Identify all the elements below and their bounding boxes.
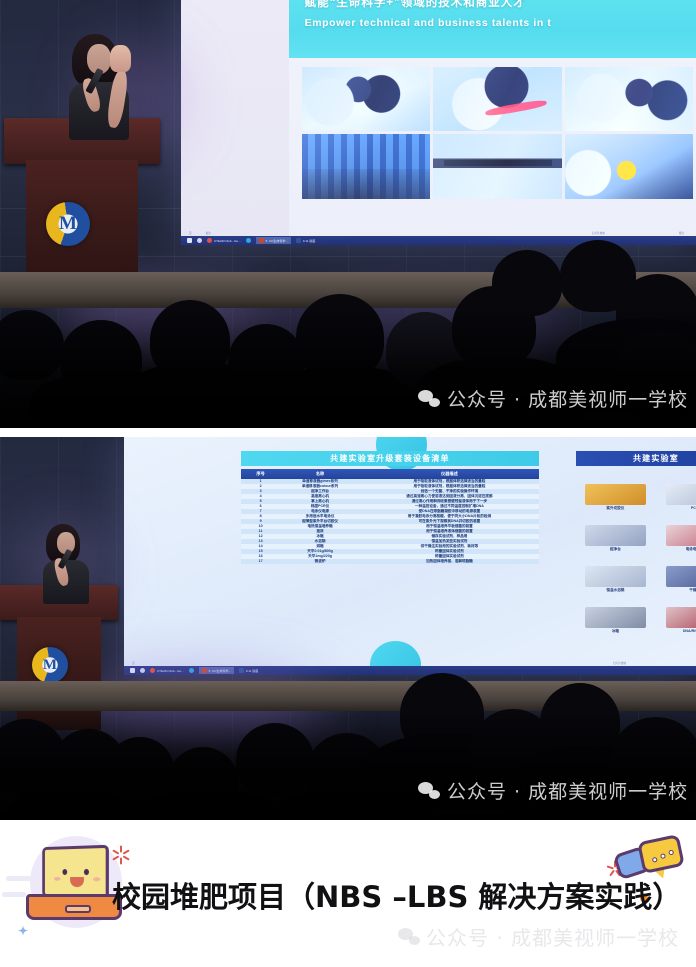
equipment-label: 电泳电源装置 (686, 547, 696, 552)
page-root: 赋能“生命科学+”领域的技术和商业人才 Empower technical an… (0, 0, 696, 967)
taskbar-item-powerpoint[interactable]: 5. UC生命科学... (256, 237, 291, 244)
equipment-label: PCR仪 (691, 506, 696, 511)
taskbar-label: 9.11 讲座 (246, 669, 258, 673)
wechat-icon (398, 928, 420, 945)
search-icon[interactable] (197, 238, 202, 243)
grid-photo-lab-pipetting (302, 67, 430, 132)
banner-title: 校园堆肥项目（NBS –LBS 解决方案实践） (112, 874, 681, 916)
bubble-dots (651, 849, 674, 863)
slide-footer-hint: 备注 (206, 231, 211, 235)
speed-line (2, 892, 26, 897)
banner-watermark-text: 公众号 · 成都美视师一学校 (426, 922, 679, 951)
presenter-1 (48, 30, 153, 135)
equipment-label: 冰箱 (612, 629, 619, 634)
table-cell: 微波炉 (280, 559, 360, 564)
ppt-icon[interactable] (259, 238, 264, 243)
slide-footer-hint: 批注 (679, 231, 684, 235)
water-bath-icon (585, 566, 647, 587)
photo-lecture-hall-1: 赋能“生命科学+”领域的技术和商业人才 Empower technical an… (0, 0, 696, 428)
pcr-machine-icon (666, 484, 696, 505)
table-cell: 4 (241, 494, 280, 498)
equipment-item: 电泳电源装置 (657, 513, 696, 552)
equipment-label: 恒温水浴锅 (606, 588, 624, 593)
taskbar-label: 5. UC生命科学... (266, 239, 288, 243)
equipment-table: 序号 名称 仪器描述 1单道移液器gimex系列用于吸取液体试剂，根据体积选择适… (241, 469, 538, 637)
grid-photo-auditorium (433, 134, 561, 199)
taskbar-item-word[interactable]: 9.11 讲座 (239, 668, 258, 673)
projection-screen-2: 共建实验室升级套装设备清单 共建实验室 序号 名称 仪器描述 1单道移液器gim… (124, 437, 696, 675)
table-cell: 16 (241, 554, 280, 558)
watermark-text: 公众号 · 成都美视师一学校 (447, 777, 688, 804)
watermark-2: 公众号 · 成都美视师一学校 (418, 777, 688, 804)
equipment-item: 冰箱 (576, 595, 655, 634)
word-icon[interactable] (296, 238, 301, 243)
chrome-icon[interactable] (150, 668, 155, 673)
table-cell: 1 (241, 479, 280, 483)
equipment-icon-panel: 紫外切胶仪 PCR仪 超净台 电泳电源装置 (576, 469, 696, 637)
taskbar-item-chrome[interactable]: CTEAM Club - Go... (150, 668, 184, 673)
projection-screen-1: 赋能“生命科学+”领域的技术和商业人才 Empower technical an… (181, 0, 696, 245)
table-cell: 17 (241, 559, 280, 563)
school-crest: M (32, 647, 68, 683)
crest-letter: M (43, 657, 57, 674)
taskbar-item-start[interactable] (187, 238, 192, 243)
taskbar-item-word[interactable]: 9.11 讲座 (296, 238, 315, 243)
electrophoresis-power-icon (666, 525, 696, 546)
taskbar-label: 5. UC生命科学... (209, 669, 231, 673)
laptop-screen (42, 845, 109, 900)
photo-separator-gap (0, 428, 696, 437)
equipment-label: 干燥烘箱 (689, 588, 696, 593)
wechat-icon (418, 782, 440, 799)
table-cell: 14 (241, 544, 280, 548)
clean-bench-icon (585, 525, 647, 546)
presenter-raised-hand (110, 45, 131, 72)
windows-start-icon[interactable] (130, 668, 135, 673)
taskbar-item-search[interactable] (140, 668, 145, 673)
grid-photo-display-screen (565, 134, 693, 199)
table-cell: 5 (241, 499, 280, 503)
equipment-label: 紫外切胶仪 (606, 506, 624, 511)
table-cell: 10 (241, 524, 280, 528)
equipment-item: 紫外切胶仪 (576, 472, 655, 511)
sparkle-icon (114, 848, 128, 862)
word-icon[interactable] (239, 668, 244, 673)
equipment-item: DNA/RNA制胶器 (657, 595, 696, 634)
slide-footer-hint: 页 (132, 661, 135, 665)
windows-taskbar[interactable]: CTEAM Club - Go... 5. UC生命科学... 9.11 讲座 (181, 236, 696, 245)
laptop-base (26, 894, 122, 920)
taskbar-label: 9.11 讲座 (303, 239, 315, 243)
watermark-1: 公众号 · 成都美视师一学校 (418, 385, 688, 412)
chrome-icon[interactable] (207, 238, 212, 243)
table-cell: 11 (241, 529, 280, 533)
table-cell: 8 (241, 514, 280, 518)
wechat-icon (418, 390, 440, 407)
laptop-face (45, 848, 106, 896)
table-row: 17微波炉加热固体培养基、溶解琼脂糖 (241, 559, 538, 564)
school-crest: M (46, 202, 90, 246)
grid-photo-white-coats (565, 67, 693, 132)
table-header-cell: 仪器描述 (360, 471, 538, 477)
slide-left-column (181, 0, 289, 245)
crest-letter: M (59, 213, 77, 235)
table-cell: 9 (241, 519, 280, 523)
taskbar-item-edge[interactable] (189, 668, 194, 673)
slide-lifescience-talents: 赋能“生命科学+”领域的技术和商业人才 Empower technical an… (181, 0, 696, 245)
table-cell: 3 (241, 489, 280, 493)
equipment-label: 超净台 (610, 547, 621, 552)
laptop-trackpad (65, 905, 91, 913)
table-header-row: 序号 名称 仪器描述 (241, 469, 538, 479)
equipment-item: 超净台 (576, 513, 655, 552)
presenter-2 (28, 522, 106, 600)
grid-photo-exhibition (302, 134, 430, 199)
gel-caster-icon (666, 607, 696, 628)
taskbar-label: CTEAM Club - Go... (214, 239, 241, 243)
table-cell: 13 (241, 539, 280, 543)
grid-photo-lab-equipment (433, 67, 561, 132)
panel-title-left: 共建实验室升级套装设备清单 (241, 451, 538, 467)
banner-watermark: 公众号 · 成都美视师一学校 (398, 922, 679, 951)
table-cell: 6 (241, 504, 280, 508)
taskbar-item-chrome[interactable]: CTEAM Club - Go... (207, 238, 241, 243)
slide-title-cn: 赋能“生命科学+”领域的技术和商业人才 (305, 0, 526, 10)
photo-lecture-hall-2: 共建实验室升级套装设备清单 共建实验室 序号 名称 仪器描述 1单道移液器gim… (0, 437, 696, 820)
ppt-icon[interactable] (202, 668, 207, 673)
taskbar-item-start[interactable] (130, 668, 135, 673)
taskbar-item-edge[interactable] (246, 238, 251, 243)
slide-lab-equipment-list: 共建实验室升级套装设备清单 共建实验室 序号 名称 仪器描述 1单道移液器gim… (124, 437, 696, 675)
table-cell: 2 (241, 484, 280, 488)
table-cell: 加热固体培养基、溶解琼脂糖 (360, 559, 538, 564)
chat-bubble-yellow (637, 834, 685, 874)
slide-footer-hint: 幻灯片放映 (613, 661, 626, 665)
panel-title-right: 共建实验室 (576, 451, 696, 467)
speed-line (6, 876, 36, 881)
search-icon[interactable] (140, 668, 145, 673)
taskbar-item-powerpoint[interactable]: 5. UC生命科学... (199, 667, 234, 674)
equipment-label: DNA/RNA制胶器 (683, 629, 696, 634)
slide-image-grid (302, 67, 693, 200)
equipment-item: 干燥烘箱 (657, 554, 696, 593)
edge-icon[interactable] (189, 668, 194, 673)
table-cell: 15 (241, 549, 280, 553)
table-cell: 12 (241, 534, 280, 538)
table-header-cell: 名称 (280, 471, 360, 477)
refrigerator-icon (585, 607, 647, 628)
table-header-cell: 序号 (241, 471, 280, 477)
windows-start-icon[interactable] (187, 238, 192, 243)
slide-footer-hint: 幻灯片放映 (592, 231, 605, 235)
bottom-banner: ✦ 校园堆肥项目 (0, 820, 696, 967)
edge-icon[interactable] (246, 238, 251, 243)
slide-title-en: Empower technical and business talents i… (305, 17, 552, 29)
equipment-item: PCR仪 (657, 472, 696, 511)
smiling-laptop-icon: ✦ (22, 842, 126, 934)
table-cell: 7 (241, 509, 280, 513)
table-body: 1单道移液器gimex系列用于吸取液体试剂，根据体积选择适当的量程2单道移液器c… (241, 479, 538, 564)
watermark-text: 公众号 · 成都美视师一学校 (447, 385, 688, 412)
uv-gel-cutter-icon (585, 484, 647, 505)
sparkle-plus-icon: ✦ (18, 924, 28, 938)
equipment-item: 恒温水浴锅 (576, 554, 655, 593)
slide-footer-hint: 页 (189, 231, 192, 235)
drying-oven-icon (666, 566, 696, 587)
audience-head (492, 250, 562, 316)
taskbar-item-search[interactable] (197, 238, 202, 243)
windows-taskbar[interactable]: CTEAM Club - Go... 5. UC生命科学... 9.11 讲座 (124, 666, 696, 675)
taskbar-label: CTEAM Club - Go... (157, 669, 184, 673)
